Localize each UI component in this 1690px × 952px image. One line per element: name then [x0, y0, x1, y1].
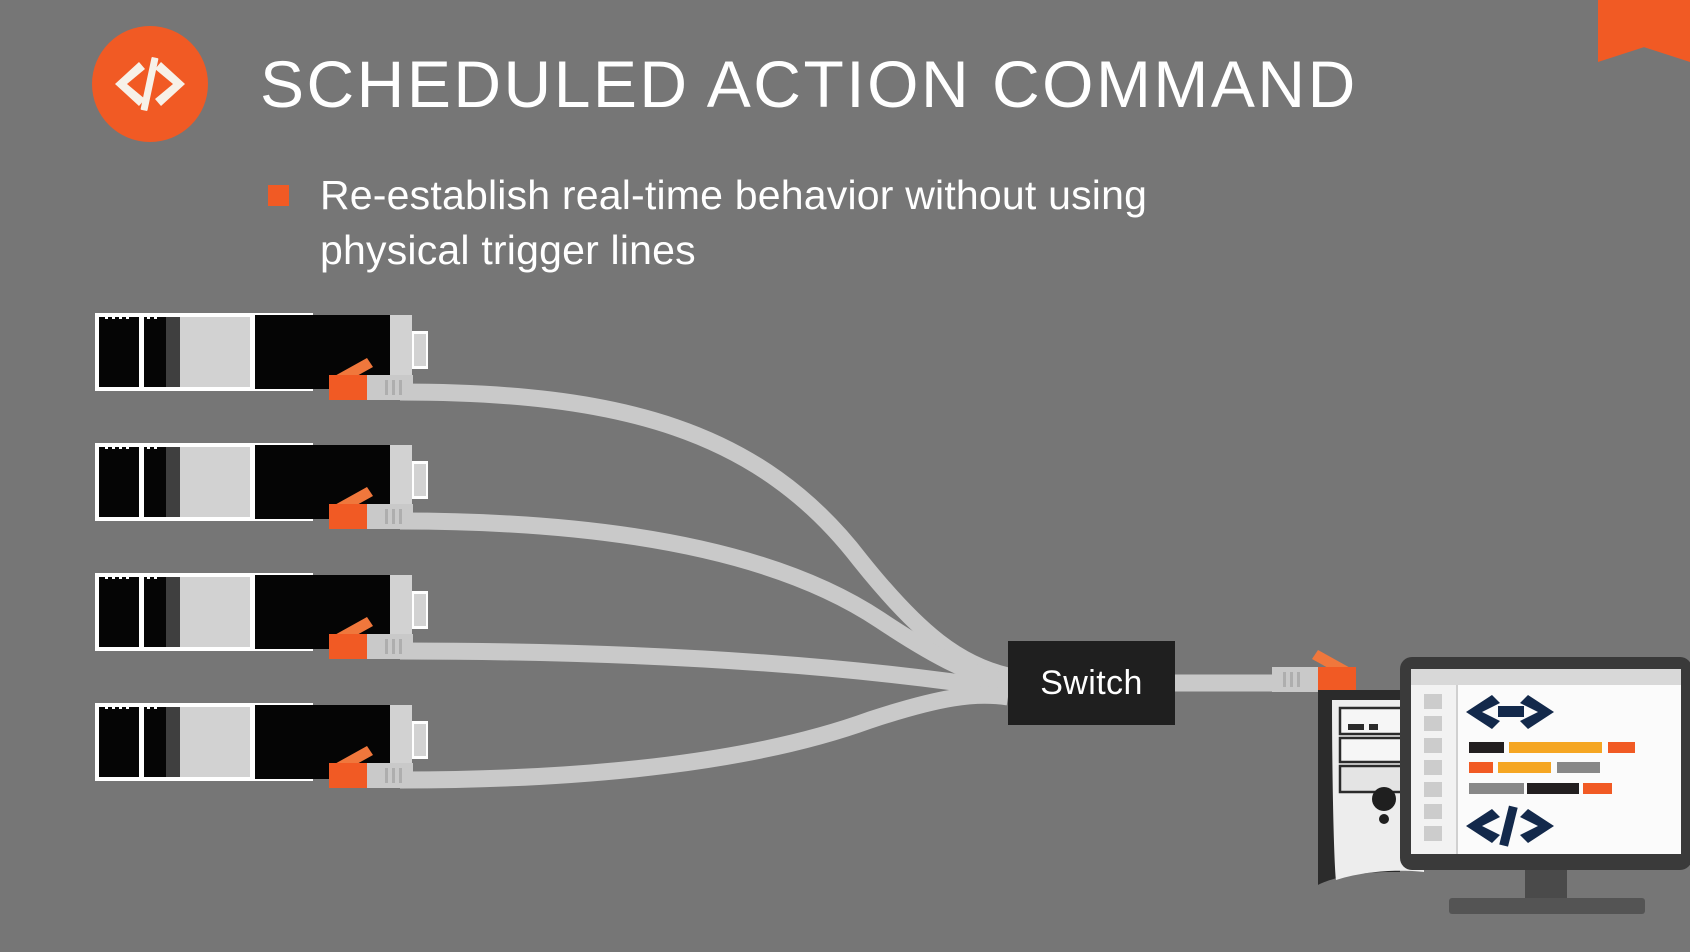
tower-drive-led	[1369, 724, 1378, 730]
network-switch[interactable]: Switch	[1008, 641, 1175, 725]
code-line-3	[1469, 783, 1612, 794]
code-line-2	[1469, 762, 1600, 773]
cable-camera-3	[400, 651, 1008, 690]
network-diagram: -->	[0, 0, 1690, 952]
cable-camera-1	[400, 392, 1008, 676]
tower-drive-slot	[1348, 724, 1364, 730]
rj45-connector-computer	[1272, 650, 1356, 692]
computer: -->	[1318, 657, 1690, 914]
monitor-stand-neck	[1525, 870, 1567, 898]
window-title-bar	[1411, 669, 1681, 685]
monitor-stand-base	[1449, 898, 1645, 914]
power-button-icon[interactable]	[1372, 787, 1396, 811]
cable-camera-4	[400, 695, 1008, 780]
tower-indicator-dot	[1379, 814, 1389, 824]
switch-label: Switch	[1040, 664, 1143, 703]
gutter-squares	[1424, 694, 1442, 841]
code-line-1	[1469, 742, 1635, 753]
slide-root: SCHEDULED ACTION COMMAND Re-establish re…	[0, 0, 1690, 952]
